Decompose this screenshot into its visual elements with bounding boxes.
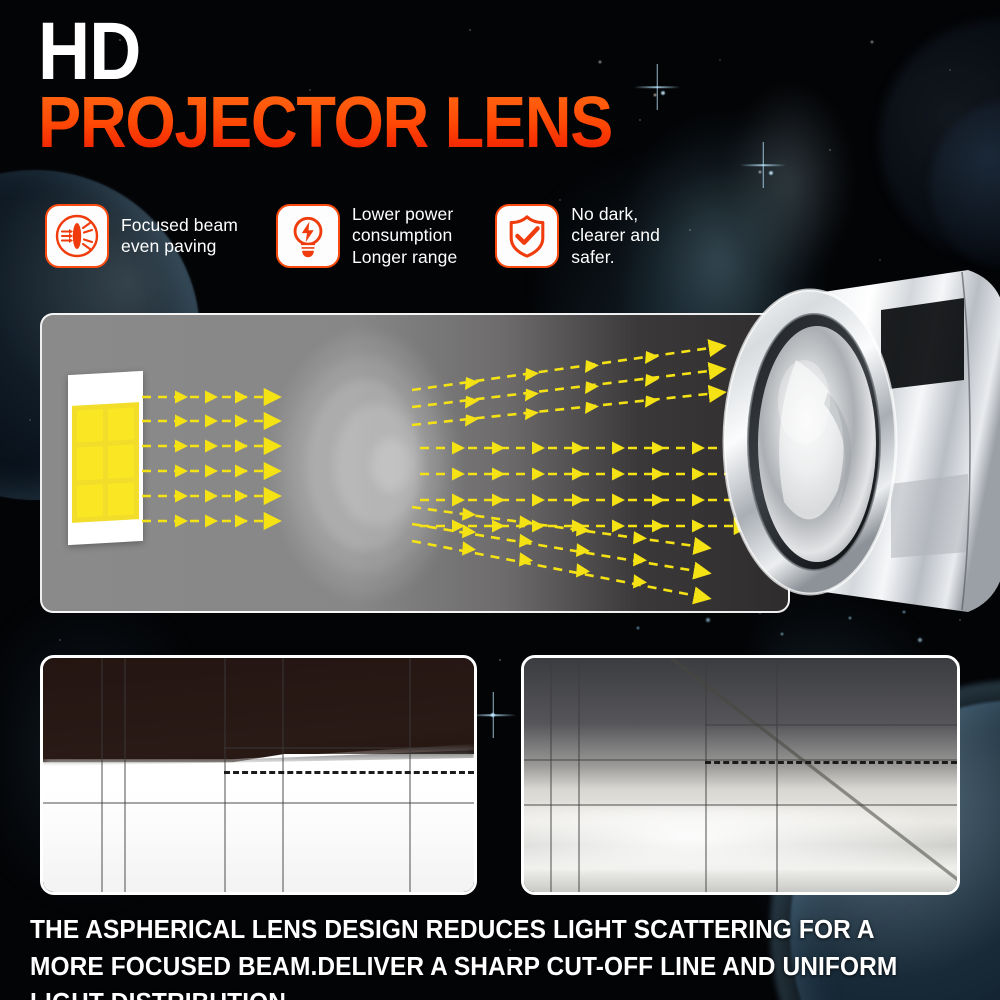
barrel-gray-band: [891, 474, 968, 558]
beam-photo-scattered: [521, 655, 960, 895]
incoming-ray-arrowheads: [175, 391, 248, 528]
grid-line-vertical: [578, 658, 580, 892]
grid-line-horizontal: [524, 804, 957, 806]
bottom-caption: THE ASPHERICAL LENS DESIGN REDUCES LIGHT…: [30, 912, 942, 1000]
grid-line-vertical: [705, 658, 707, 892]
beam-reference-dashed-line: [705, 761, 957, 764]
title-line-hd: HD: [38, 14, 599, 89]
grid-line-vertical: [124, 658, 126, 892]
focused-beam-icon: [45, 204, 109, 268]
outgoing-straight-arrowheads: [452, 442, 705, 533]
star-burst-icon: [748, 150, 778, 180]
beam-photo-sharp-cutoff: [40, 655, 477, 895]
title-line-projector-lens: PROJECTOR LENS: [38, 87, 612, 159]
feature-badge-focused-beam: Focused beam even paving: [45, 204, 238, 268]
grid-line-vertical: [409, 658, 411, 892]
shield-check-icon: [495, 204, 559, 268]
grid-line-vertical: [101, 658, 103, 892]
grid-line-vertical: [282, 658, 284, 892]
grid-line-horizontal: [705, 724, 960, 726]
grid-line-vertical: [550, 658, 552, 892]
poster-canvas: HD PROJECTOR LENS: [0, 0, 1000, 1000]
grid-line-horizontal: [43, 802, 474, 804]
light-rays-overlay: [42, 315, 790, 613]
title-block: HD PROJECTOR LENS: [38, 14, 676, 159]
feature-label: No dark, clearer and safer.: [571, 204, 660, 268]
light-path-diagram: [40, 313, 790, 613]
outgoing-rays-up: [412, 347, 717, 425]
feature-badge-list: Focused beam even paving Lower power con…: [45, 204, 660, 268]
feature-badge-no-dark: No dark, clearer and safer.: [495, 204, 660, 268]
feature-label: Focused beam even paving: [121, 215, 238, 258]
grid-line-vertical: [776, 658, 778, 892]
projector-lens-product: [718, 252, 1000, 644]
outgoing-rays-down: [412, 507, 702, 597]
beam-reference-dashed-line: [224, 771, 474, 774]
barrel-dark-reflection: [881, 298, 964, 390]
lens-specular: [778, 360, 830, 444]
feature-badge-lower-power: Lower power consumption Longer range: [276, 204, 457, 268]
lightbulb-bolt-icon: [276, 204, 340, 268]
grid-line-vertical: [224, 658, 226, 892]
feature-label: Lower power consumption Longer range: [352, 204, 457, 268]
beam-diagonal-line: [671, 658, 960, 892]
grid-line-horizontal: [224, 747, 477, 749]
